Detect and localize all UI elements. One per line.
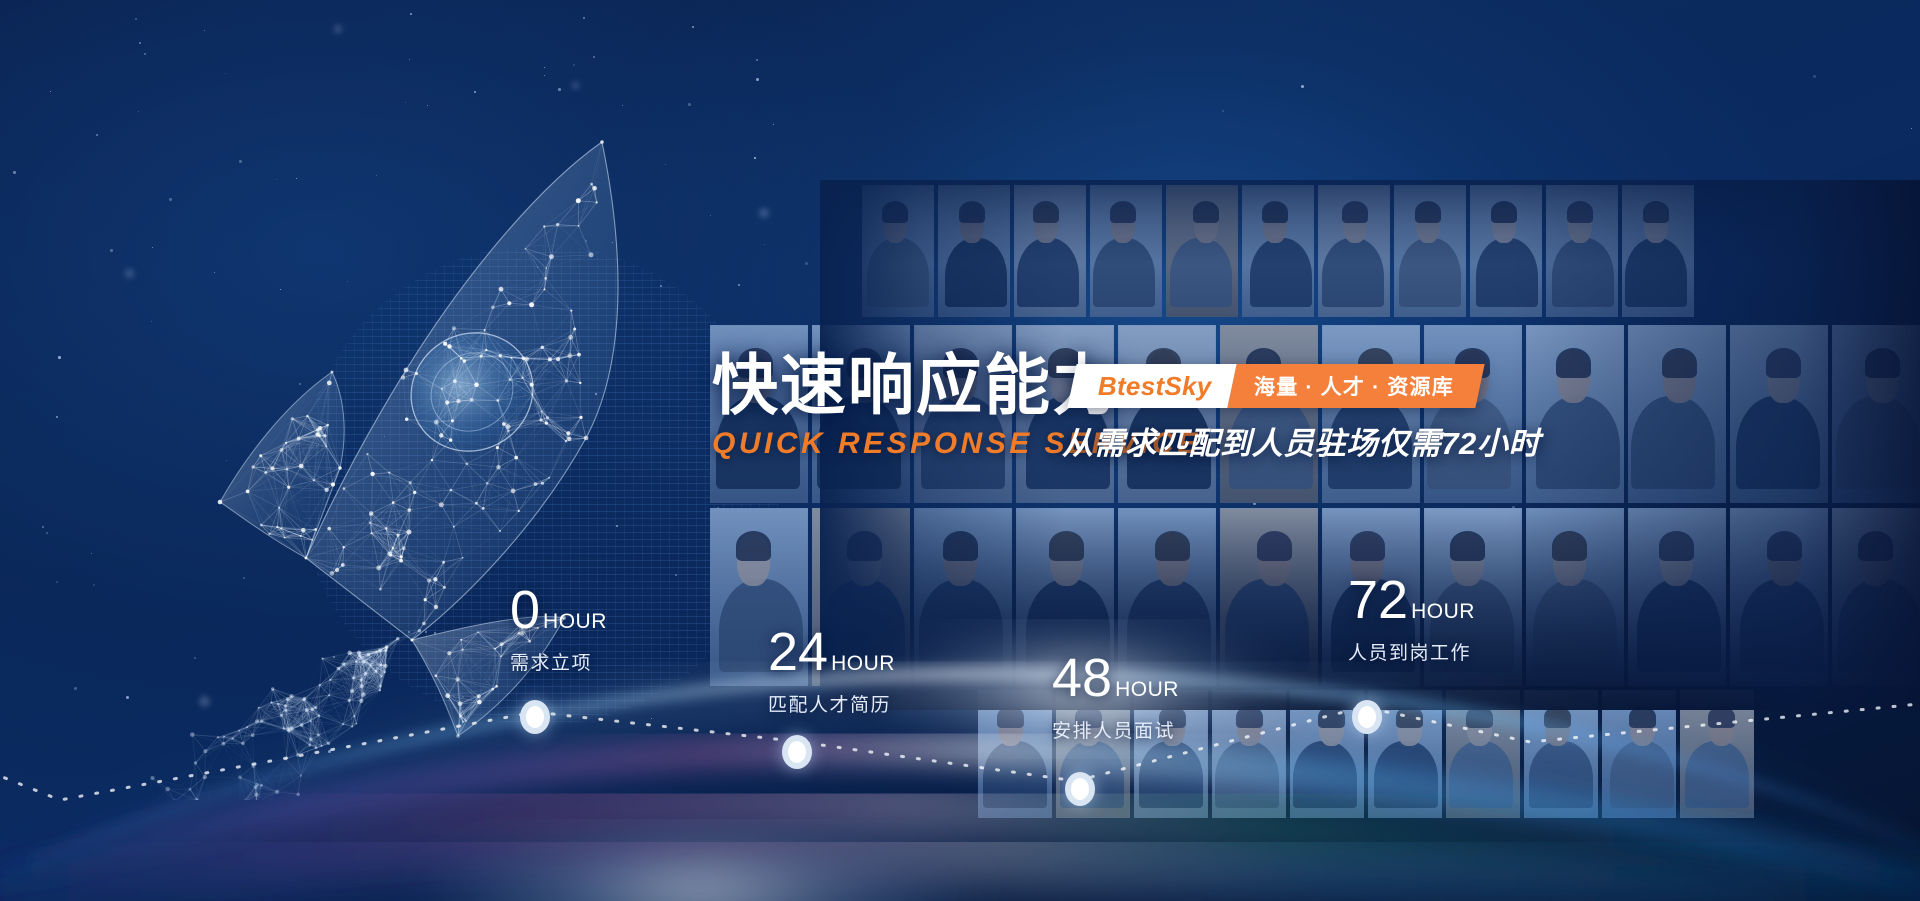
mosaic-photo xyxy=(1166,185,1238,317)
timeline-dot[interactable] xyxy=(782,735,812,769)
mosaic-photo xyxy=(1524,690,1598,818)
mosaic-photo xyxy=(862,185,934,317)
timeline-node-unit: HOUR xyxy=(543,610,607,634)
timeline-dot[interactable] xyxy=(1065,772,1095,806)
timeline-node[interactable]: 24HOUR匹配人才简历 xyxy=(768,627,895,717)
mosaic-photo xyxy=(1220,508,1318,686)
mosaic-photo xyxy=(1546,185,1618,317)
mosaic-row xyxy=(862,185,1694,317)
brand-badge: BtestSky 海量 · 人才 · 资源库 xyxy=(1067,364,1484,408)
mosaic-photo xyxy=(1526,325,1624,503)
timeline-node-label: 需求立项 xyxy=(510,648,607,675)
mosaic-photo xyxy=(1832,508,1920,686)
timeline-node-value: 48 xyxy=(1052,653,1112,704)
timeline-node[interactable]: 0HOUR需求立项 xyxy=(510,585,607,675)
timeline-node-label: 匹配人才简历 xyxy=(768,690,895,717)
timeline-node[interactable]: 72HOUR人员到岗工作 xyxy=(1348,575,1475,665)
timeline-node-value: 72 xyxy=(1348,575,1408,626)
timeline-node-unit: HOUR xyxy=(1115,678,1179,702)
mosaic-photo xyxy=(1212,690,1286,818)
timeline-dot[interactable] xyxy=(520,700,550,734)
mosaic-photo xyxy=(1242,185,1314,317)
tagline: 从需求匹配到人员驻场仅需72小时 xyxy=(1062,418,1540,463)
mosaic-photo xyxy=(1832,325,1920,503)
mosaic-photo xyxy=(1730,325,1828,503)
mosaic-photo xyxy=(1014,185,1086,317)
wireframe-rocket-icon xyxy=(150,120,710,800)
mosaic-photo xyxy=(1090,185,1162,317)
timeline-dot[interactable] xyxy=(1352,700,1382,734)
timeline-node-value: 24 xyxy=(768,627,828,678)
brand-badge-name: BtestSky xyxy=(1067,364,1236,408)
mosaic-photo xyxy=(938,185,1010,317)
mosaic-photo xyxy=(1446,690,1520,818)
mosaic-photo xyxy=(1602,690,1676,818)
timeline-node[interactable]: 48HOUR安排人员面试 xyxy=(1052,653,1179,743)
mosaic-photo xyxy=(1730,508,1828,686)
mosaic-photo xyxy=(1628,508,1726,686)
mosaic-photo xyxy=(1318,185,1390,317)
brand-badge-tag: 海量 · 人才 · 资源库 xyxy=(1227,364,1484,408)
mosaic-photo xyxy=(1622,185,1694,317)
timeline-node-unit: HOUR xyxy=(831,652,895,676)
mosaic-photo xyxy=(1394,185,1466,317)
mosaic-photo xyxy=(978,690,1052,818)
mosaic-photo xyxy=(1470,185,1542,317)
mosaic-photo xyxy=(1680,690,1754,818)
timeline-node-label: 安排人员面试 xyxy=(1052,716,1179,743)
timeline-node-value: 0 xyxy=(510,585,540,636)
mosaic-photo xyxy=(1526,508,1624,686)
mosaic-photo xyxy=(1628,325,1726,503)
timeline-node-unit: HOUR xyxy=(1411,600,1475,624)
brand-name-label: BtestSky xyxy=(1098,371,1212,402)
mosaic-photo xyxy=(914,508,1012,686)
hero-banner: 快速响应能力 QUICK RESPONSE SERVICE BtestSky 海… xyxy=(0,0,1920,901)
timeline-node-label: 人员到岗工作 xyxy=(1348,638,1475,665)
brand-tag-label: 海量 · 人才 · 资源库 xyxy=(1254,371,1454,401)
